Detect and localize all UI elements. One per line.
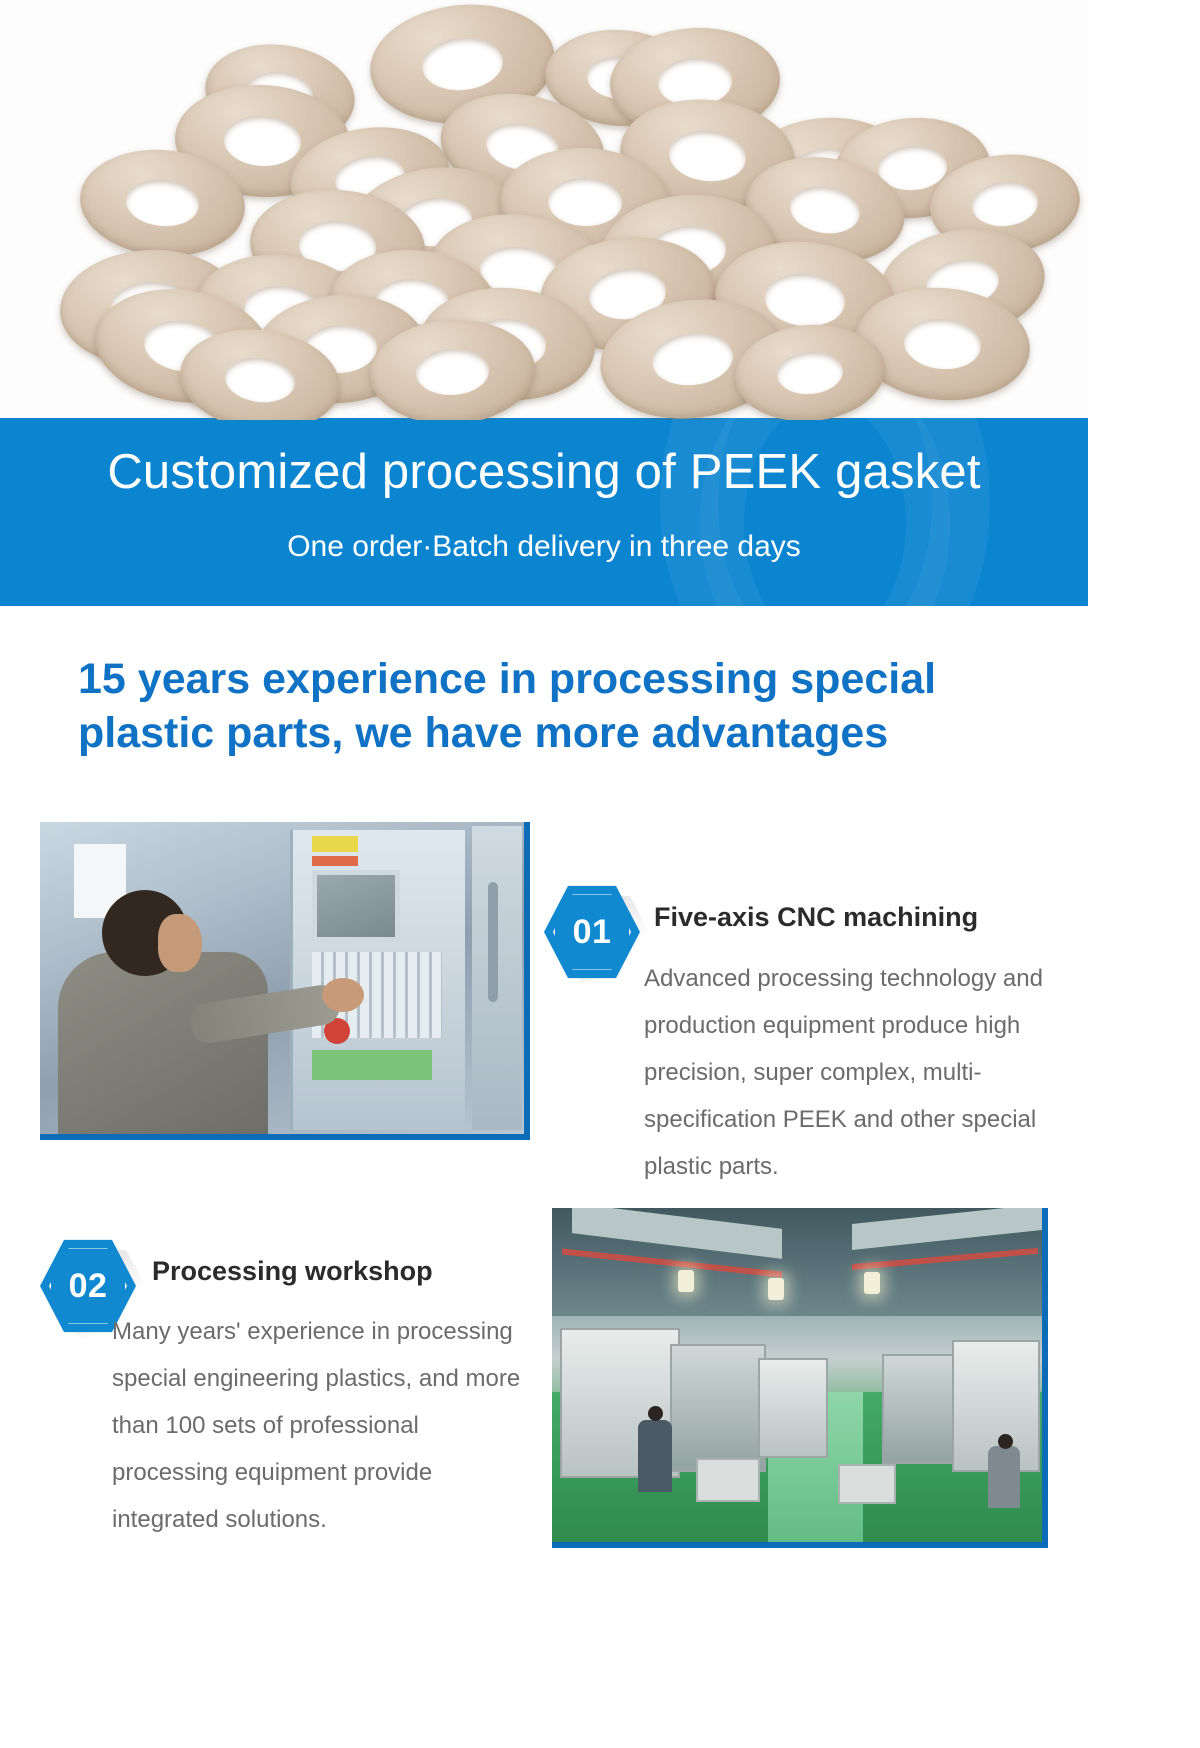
badge-number: 01 (573, 913, 612, 952)
cnc-machine (882, 1354, 962, 1464)
headline-line-1: 15 years experience in processing specia… (78, 652, 1058, 706)
worker-figure (638, 1420, 672, 1492)
hero-product-image (0, 0, 1088, 420)
section-headline: 15 years experience in processing specia… (78, 652, 1058, 760)
warning-label-2-icon (312, 856, 358, 866)
feature-description-02: Many years' experience in processing spe… (112, 1308, 532, 1543)
worker-hand (322, 978, 364, 1012)
feature-badge-01: 01 (544, 884, 640, 980)
banner-subtitle: One order·Batch delivery in three days (0, 530, 1088, 564)
worker-head (998, 1434, 1013, 1449)
ceiling-lamp-icon (864, 1272, 880, 1294)
cnc-machine (670, 1344, 766, 1472)
banner-title: Customized processing of PEEK gasket (0, 444, 1088, 500)
green-control-panel (312, 1050, 432, 1080)
material-cart (696, 1458, 760, 1502)
feature-title-01: Five-axis CNC machining (654, 902, 978, 933)
material-cart (838, 1464, 896, 1504)
cnc-machine (758, 1358, 828, 1458)
headline-line-2: plastic parts, we have more advantages (78, 706, 1058, 760)
ceiling-lamp-icon (678, 1270, 694, 1292)
door-handle-icon (488, 882, 498, 1002)
worker-figure (988, 1446, 1020, 1508)
cnc-screen (312, 870, 400, 942)
feature-title-02: Processing workshop (152, 1256, 433, 1287)
cnc-machining-photo (40, 822, 524, 1134)
workshop-photo (552, 1208, 1042, 1542)
warning-label-icon (312, 836, 358, 852)
worker-face (158, 914, 202, 972)
feature-description-01: Advanced processing technology and produ… (644, 955, 1074, 1190)
ceiling-lamp-icon (768, 1278, 784, 1300)
worker-head (648, 1406, 663, 1421)
badge-number: 02 (69, 1267, 108, 1306)
worker-body (58, 952, 268, 1134)
title-banner: Customized processing of PEEK gasket One… (0, 418, 1088, 606)
